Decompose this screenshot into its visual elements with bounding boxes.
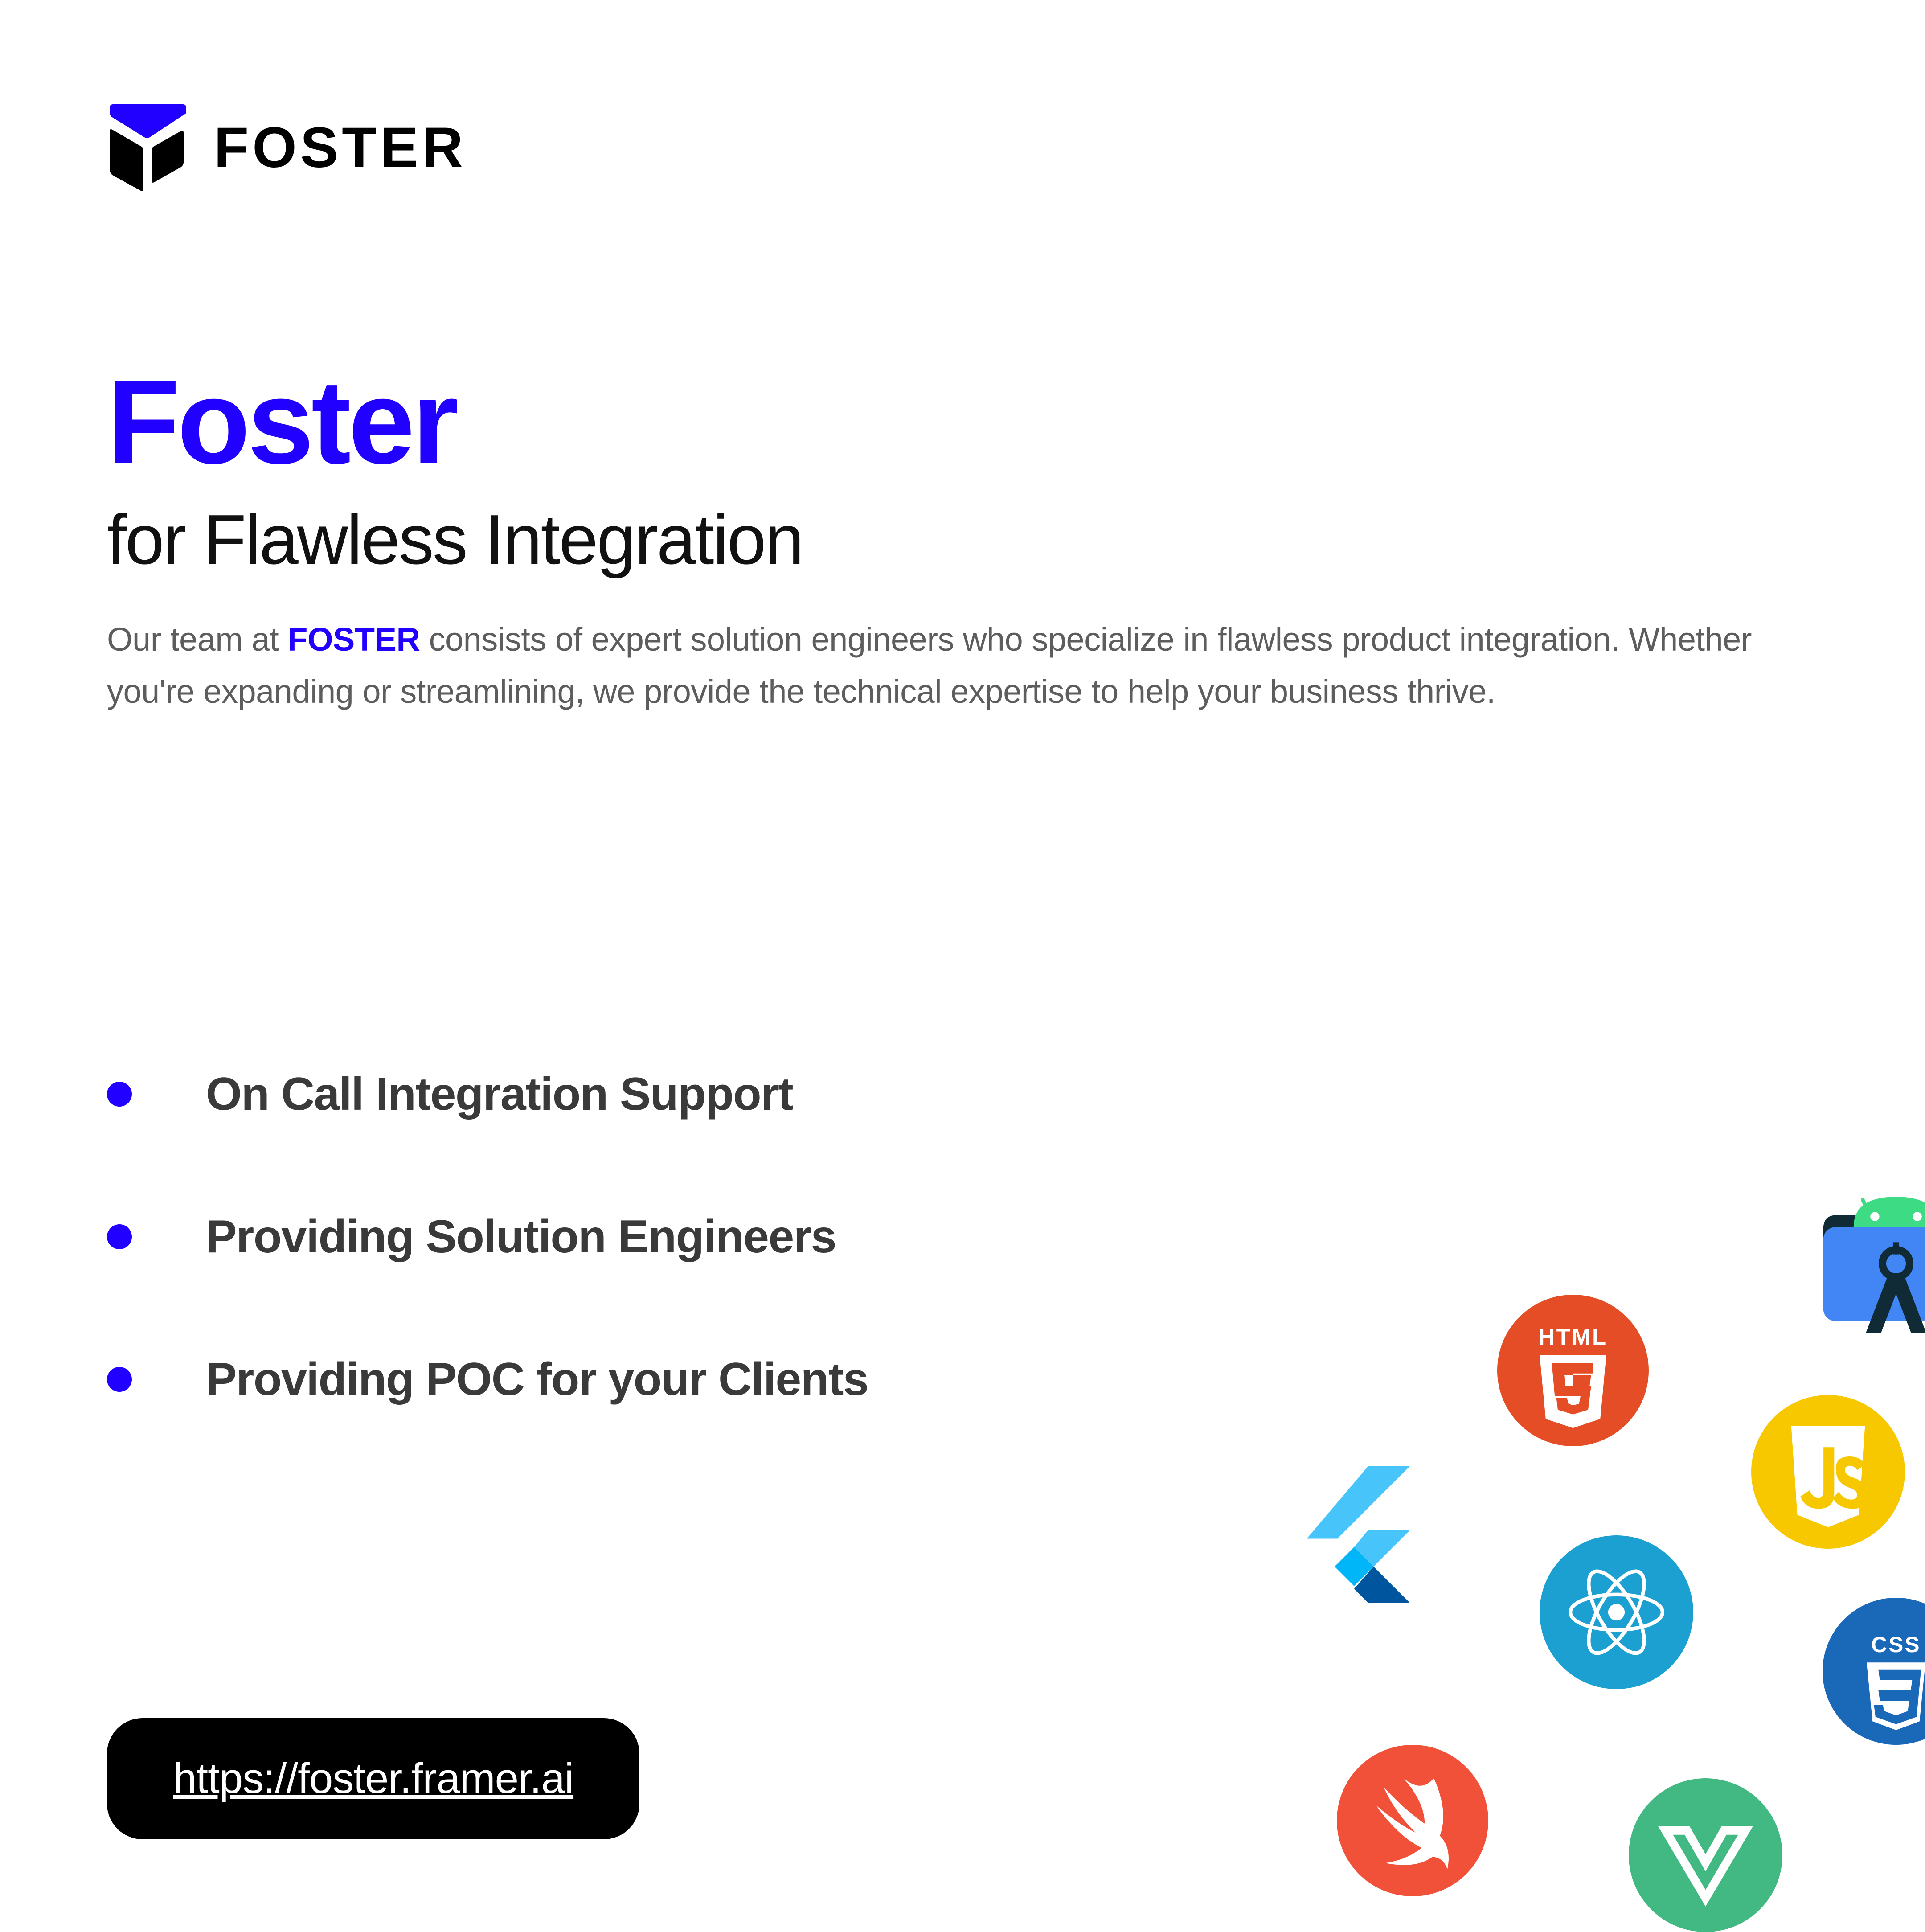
bullet-dot-icon	[107, 1082, 132, 1107]
list-item: On Call Integration Support	[107, 1058, 868, 1130]
flutter-icon	[1301, 1462, 1413, 1604]
foster-logo-mark-icon	[107, 103, 187, 193]
list-item: Providing POC for your Clients	[107, 1344, 868, 1415]
website-url-button[interactable]: https://foster.framer.ai	[107, 1718, 639, 1839]
page-title: Foster	[107, 361, 1845, 483]
bullet-dot-icon	[107, 1224, 132, 1249]
css3-icon: CSS	[1823, 1598, 1925, 1745]
html5-icon: HTML	[1497, 1295, 1649, 1446]
react-icon	[1540, 1535, 1693, 1689]
brand-logo[interactable]: FOSTER	[107, 103, 467, 193]
feature-list: On Call Integration Support Providing So…	[107, 1058, 868, 1415]
page-subtitle: for Flawless Integration	[107, 501, 1845, 579]
brand-wordmark: FOSTER	[214, 119, 467, 176]
feature-label: Providing POC for your Clients	[206, 1353, 868, 1406]
svg-text:HTML: HTML	[1538, 1324, 1607, 1350]
android-studio-icon	[1820, 1188, 1925, 1339]
paragraph-brand-emphasis: FOSTER	[287, 621, 420, 658]
tech-stack-cluster: HTML	[1248, 1159, 1925, 1925]
feature-label: Providing Solution Engineers	[206, 1210, 836, 1263]
feature-label: On Call Integration Support	[206, 1068, 793, 1121]
list-item: Providing Solution Engineers	[107, 1201, 868, 1272]
bullet-dot-icon	[107, 1367, 132, 1392]
hero-section: Foster for Flawless Integration Our team…	[107, 361, 1845, 718]
hero-paragraph: Our team at FOSTER consists of expert so…	[107, 614, 1765, 718]
swift-icon	[1337, 1745, 1488, 1896]
paragraph-lead: Our team at	[107, 621, 287, 658]
javascript-icon	[1751, 1395, 1905, 1549]
svg-text:CSS: CSS	[1871, 1633, 1921, 1657]
vue-icon	[1629, 1778, 1782, 1932]
